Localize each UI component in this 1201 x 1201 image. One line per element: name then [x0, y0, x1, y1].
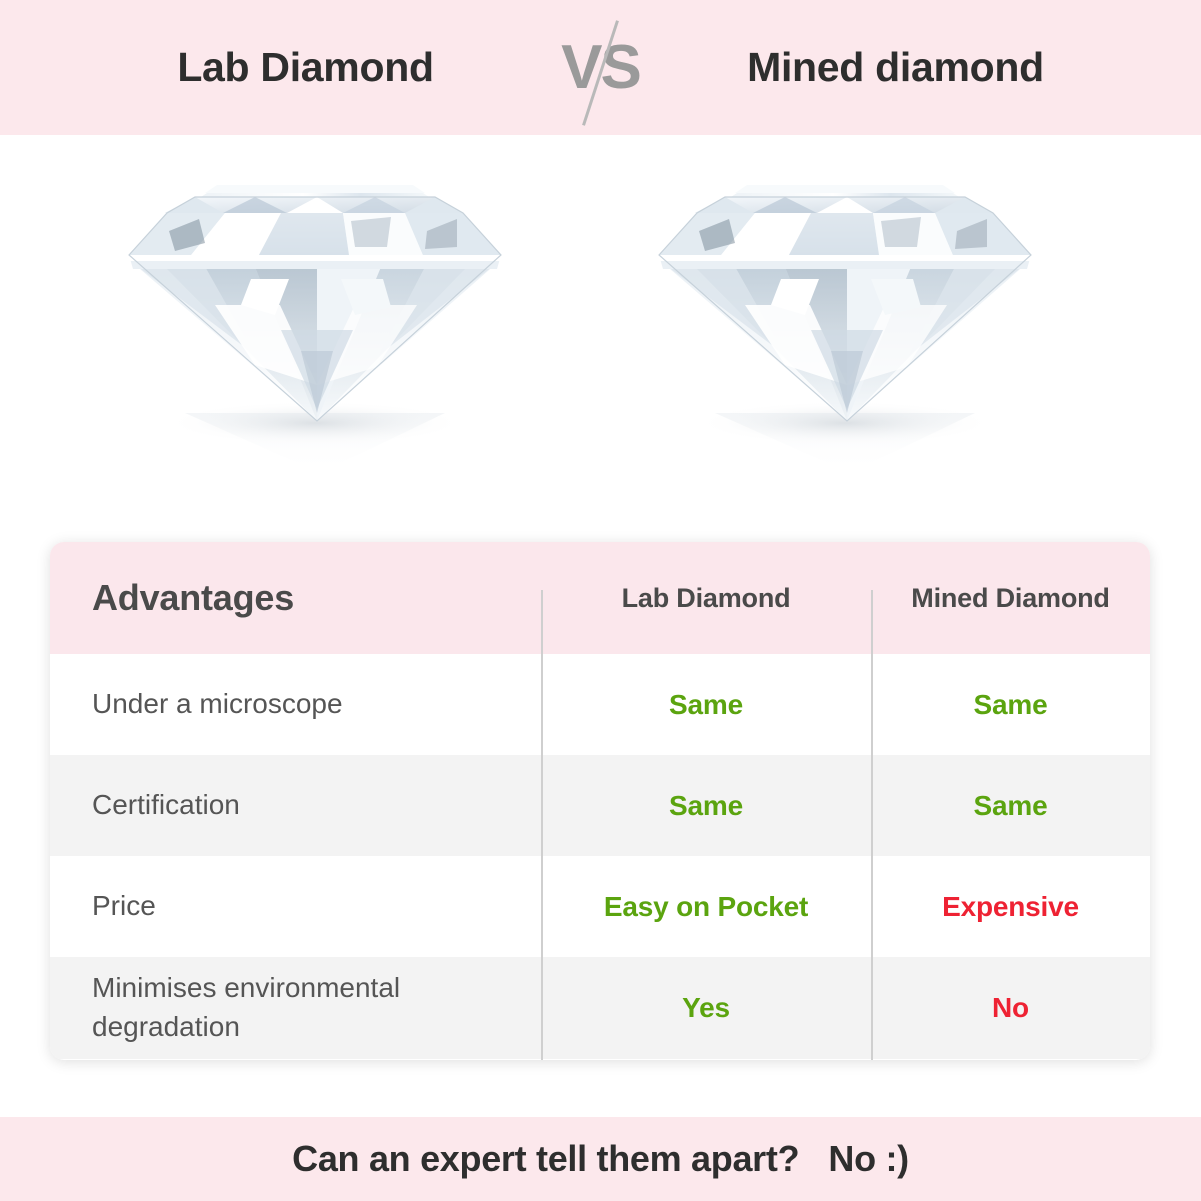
advantages-heading: Advantages [92, 577, 294, 619]
lab-value: Same [669, 689, 743, 721]
row-lab-cell: Easy on Pocket [541, 856, 871, 957]
versus-badge: VS [541, 0, 661, 135]
lab-value: Easy on Pocket [604, 891, 808, 923]
row-mined-cell: Same [871, 755, 1150, 856]
column-divider-mined [871, 590, 873, 1060]
lab-value: Yes [682, 992, 730, 1024]
column-divider-lab [541, 590, 543, 1060]
header-cell-mined: Mined Diamond [871, 542, 1150, 654]
row-mined-cell: No [871, 957, 1150, 1059]
row-label: Certification [92, 786, 240, 825]
row-feature-cell: Minimises environmental degradation [50, 957, 541, 1059]
row-lab-cell: Same [541, 755, 871, 856]
table-row: Certification Same Same [50, 755, 1150, 856]
table-row: Minimises environmental degradation Yes … [50, 957, 1150, 1059]
lab-column-label: Lab Diamond [622, 583, 791, 614]
row-feature-cell: Price [50, 856, 541, 957]
table-header-row: Advantages Lab Diamond Mined Diamond [50, 542, 1150, 654]
row-label: Minimises environmental degradation [92, 969, 541, 1046]
row-feature-cell: Under a microscope [50, 654, 541, 755]
row-label: Price [92, 887, 156, 926]
mined-value: Same [974, 790, 1048, 822]
mined-column-label: Mined Diamond [911, 583, 1109, 614]
mined-diamond-image [635, 155, 1055, 495]
mined-value: No [992, 992, 1029, 1024]
diamond-illustration [105, 155, 525, 495]
row-lab-cell: Yes [541, 957, 871, 1059]
mined-value: Expensive [942, 891, 1079, 923]
diamond-image-area [0, 135, 1201, 525]
lab-diamond-title: Lab Diamond [71, 44, 541, 91]
row-mined-cell: Expensive [871, 856, 1150, 957]
row-label: Under a microscope [92, 685, 343, 724]
mined-value: Same [974, 689, 1048, 721]
footer-question: Can an expert tell them apart? No :) [292, 1138, 909, 1180]
lab-value: Same [669, 790, 743, 822]
header-band: Lab Diamond VS Mined diamond [0, 0, 1201, 135]
row-feature-cell: Certification [50, 755, 541, 856]
diamond-illustration [635, 155, 1055, 495]
lab-diamond-image [105, 155, 525, 495]
comparison-table: Advantages Lab Diamond Mined Diamond Und… [50, 542, 1150, 1060]
header-cell-feature: Advantages [50, 542, 541, 654]
header-cell-lab: Lab Diamond [541, 542, 871, 654]
mined-diamond-title: Mined diamond [661, 44, 1131, 91]
row-mined-cell: Same [871, 654, 1150, 755]
row-lab-cell: Same [541, 654, 871, 755]
table-row: Price Easy on Pocket Expensive [50, 856, 1150, 957]
table-row: Under a microscope Same Same [50, 654, 1150, 755]
footer-band: Can an expert tell them apart? No :) [0, 1117, 1201, 1201]
